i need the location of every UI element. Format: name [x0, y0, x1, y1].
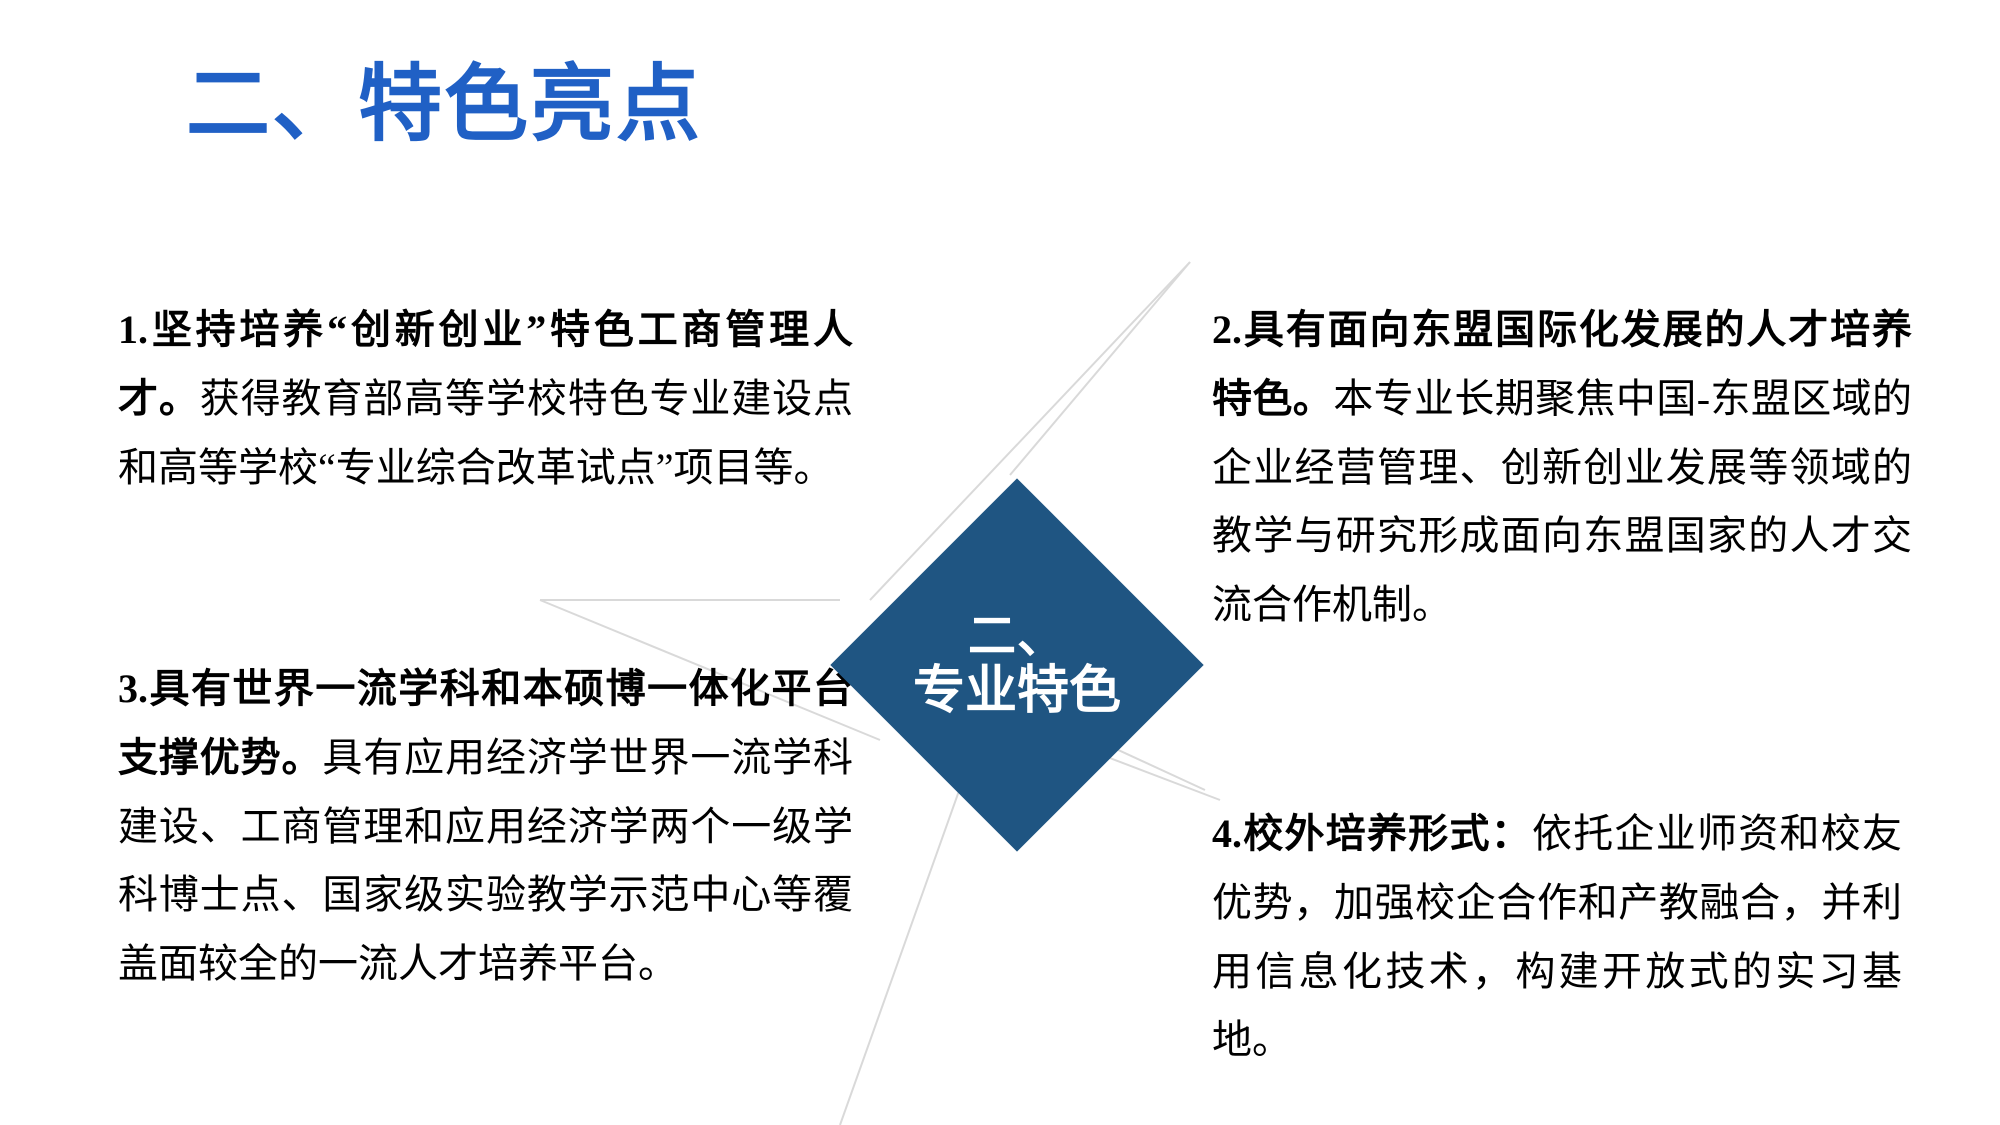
- feature-block-1: 1.坚持培养“创新创业”特色工商管理人才。获得教育部高等学校特色专业建设点和高等…: [118, 296, 853, 502]
- feature-block-3: 3.具有世界一流学科和本硕博一体化平台支撑优势。具有应用经济学世界一流学科建设、…: [118, 655, 853, 999]
- center-diamond-badge: 二、 专业特色: [830, 478, 1204, 852]
- connector-line-upper-diagonal: [1010, 262, 1190, 475]
- feature-block-2: 2.具有面向东盟国际化发展的人才培养特色。本专业长期聚焦中国-东盟区域的企业经营…: [1212, 296, 1912, 640]
- feature-block-1-body: 获得教育部高等学校特色专业建设点和高等学校“专业综合改革试点”项目等。: [118, 376, 853, 490]
- feature-block-4-lead: 4.校外培养形式：: [1212, 811, 1532, 856]
- feature-block-4: 4.校外培养形式：依托企业师资和校友优势，加强校企合作和产教融合，并利用信息化技…: [1212, 800, 1902, 1075]
- page-title: 二、特色亮点: [186, 62, 702, 146]
- slide-canvas: 二、特色亮点 1.坚持培养“创新创业”特色工商管理人才。获得教育部高等学校特色专…: [0, 0, 2000, 1125]
- diamond-shape: [830, 478, 1203, 851]
